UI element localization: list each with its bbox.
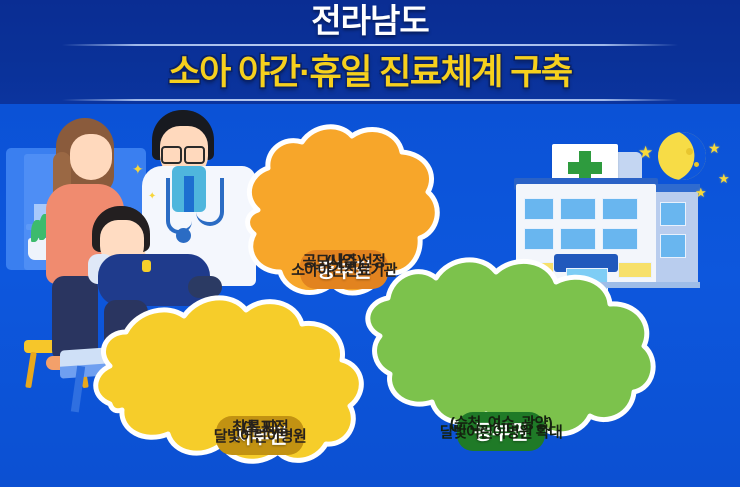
star-icon: ★	[718, 170, 730, 187]
hospital-window	[524, 198, 554, 220]
region-west-line-3: (목포)	[160, 416, 360, 439]
header-divider-top	[62, 44, 678, 46]
star-icon: ★	[695, 184, 707, 201]
page-subtitle: 소아 야간·휴일 진료체계 구축	[0, 50, 740, 96]
sparkle-icon: ✦	[132, 162, 144, 176]
doctor-glasses-left	[161, 146, 182, 164]
sparkle-icon-small: ✦	[148, 190, 156, 204]
header-divider-bottom	[62, 99, 678, 101]
stool-leg-left	[25, 352, 37, 388]
hospital-window	[660, 202, 686, 226]
header-banner: 전라남도 소아 야간·휴일 진료체계 구축	[0, 0, 740, 104]
stethoscope-tube-right	[196, 178, 224, 226]
crescent-moon-icon	[652, 126, 712, 186]
moon-crater	[694, 162, 699, 167]
star-icon: ★	[638, 144, 653, 161]
hospital-window	[602, 198, 638, 220]
region-mid-line-3: (나주)	[248, 250, 440, 273]
stethoscope-tube-left	[166, 178, 192, 234]
infographic-page: 전라남도 소아 야간·휴일 진료체계 구축	[0, 0, 740, 487]
moon-crater	[686, 148, 693, 155]
hospital-window	[560, 198, 596, 220]
mother-face	[70, 134, 112, 180]
page-title: 전라남도	[0, 1, 740, 41]
illustration-stage: ✦ ✦	[0, 104, 740, 487]
region-east-line-2: (순천, 여수, 광양)	[385, 412, 617, 435]
stethoscope-bell	[176, 228, 191, 243]
medical-cross-icon-bar	[568, 162, 602, 174]
doctor-glasses-right	[184, 146, 205, 164]
star-icon: ★	[708, 140, 721, 157]
